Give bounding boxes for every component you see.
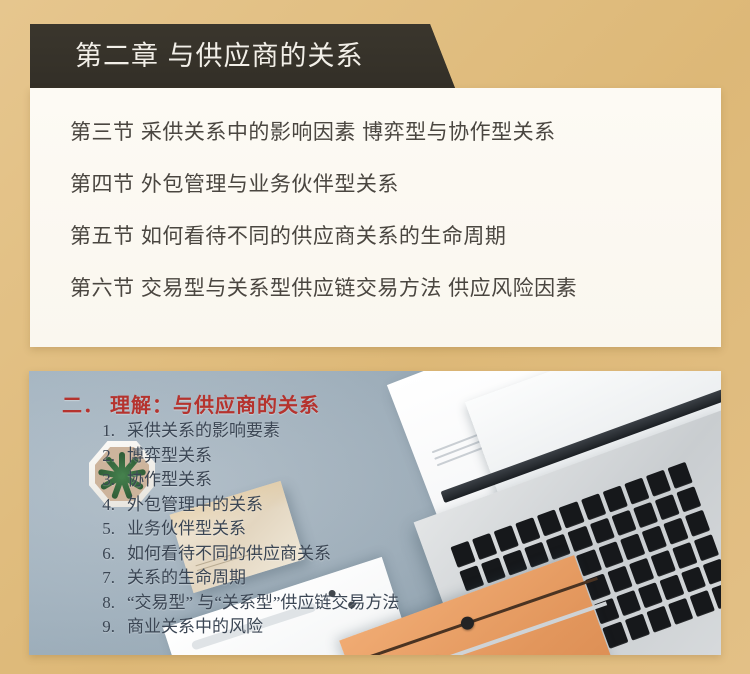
contents-line: 第五节 如何看待不同的供应商关系的生命周期 — [70, 226, 703, 247]
chapter-title: 第二章 与供应商的关系 — [75, 24, 364, 88]
binder-hole — [328, 589, 337, 598]
contents-panel: 第三节 采供关系中的影响因素 博弈型与协作型关系 第四节 外包管理与业务伙伴型关… — [30, 88, 721, 347]
binder-hole — [347, 601, 356, 610]
contents-line: 第六节 交易型与关系型供应链交易方法 供应风险因素 — [70, 278, 703, 299]
slide-page: 第二章 与供应商的关系 第三节 采供关系中的影响因素 博弈型与协作型关系 第四节… — [0, 0, 750, 674]
contents-line: 第四节 外包管理与业务伙伴型关系 — [70, 174, 703, 195]
chapter-banner: 第二章 与供应商的关系 — [30, 24, 490, 88]
slide-preview-image: 二． 理解：与供应商的关系 1.采供关系的影响要素 2.博弈型关系 3.协作型关… — [29, 371, 721, 655]
notebook-knob — [429, 654, 446, 655]
notebook-knob — [459, 615, 476, 632]
contents-list: 第三节 采供关系中的影响因素 博弈型与协作型关系 第四节 外包管理与业务伙伴型关… — [70, 122, 703, 299]
contents-line: 第三节 采供关系中的影响因素 博弈型与协作型关系 — [70, 122, 703, 143]
